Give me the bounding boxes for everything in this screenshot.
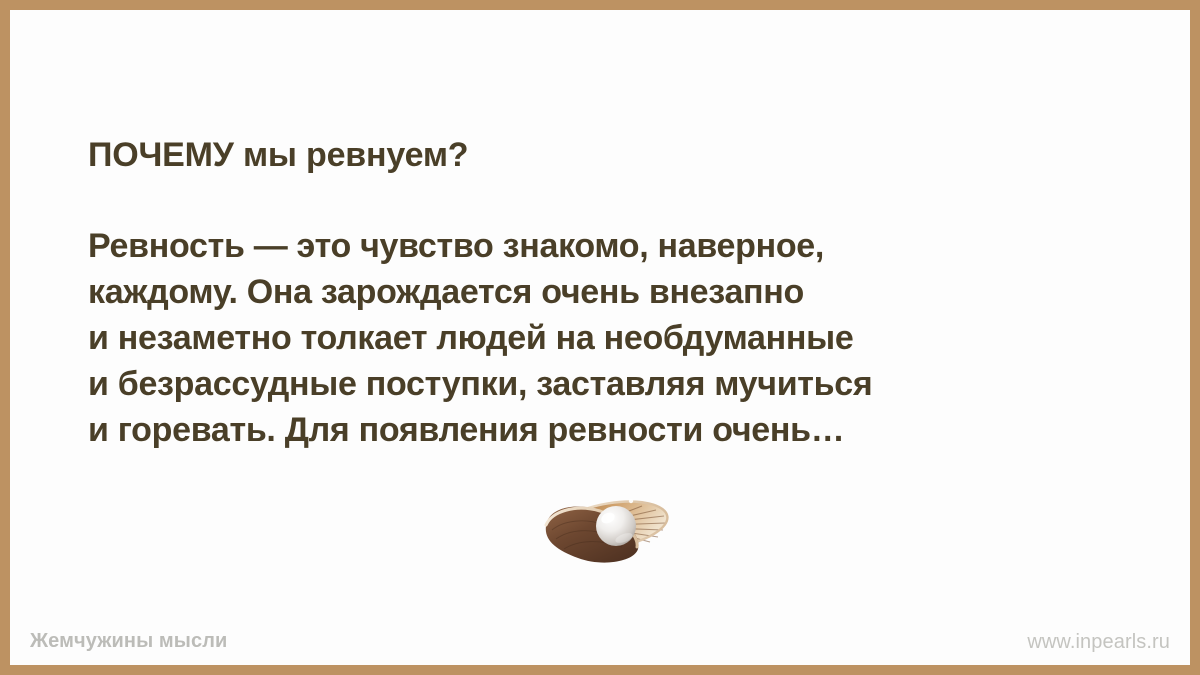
quote-line: и незаметно толкает людей на необдуманны… (88, 315, 1148, 361)
quote-line: и горевать. Для появления ревности очень… (88, 407, 1148, 453)
quote-body-text: Ревность — это чувство знакомо, наверное… (88, 223, 1148, 453)
quote-card-page: { "frame": { "border_color": "#bd9262", … (0, 0, 1200, 675)
footer-site-url[interactable]: www.inpearls.ru (1027, 631, 1170, 654)
page-title-rest: мы ревнуем? (234, 136, 469, 174)
quote-line: каждому. Она зарождается очень внезапно (88, 269, 1148, 315)
page-title-emphasis: ПОЧЕМУ (88, 136, 234, 174)
pearl-in-oyster-shell-icon (538, 492, 678, 572)
quote-card: ПОЧЕМУ мы ревнуем? Ревность — это чувств… (10, 10, 1190, 665)
page-title: ПОЧЕМУ мы ревнуем? (88, 136, 468, 175)
footer-brand-label: Жемчужины мысли (30, 630, 227, 653)
quote-line: и безрассудные поступки, заставляя мучит… (88, 361, 1148, 407)
quote-line: Ревность — это чувство знакомо, наверное… (88, 223, 1148, 269)
